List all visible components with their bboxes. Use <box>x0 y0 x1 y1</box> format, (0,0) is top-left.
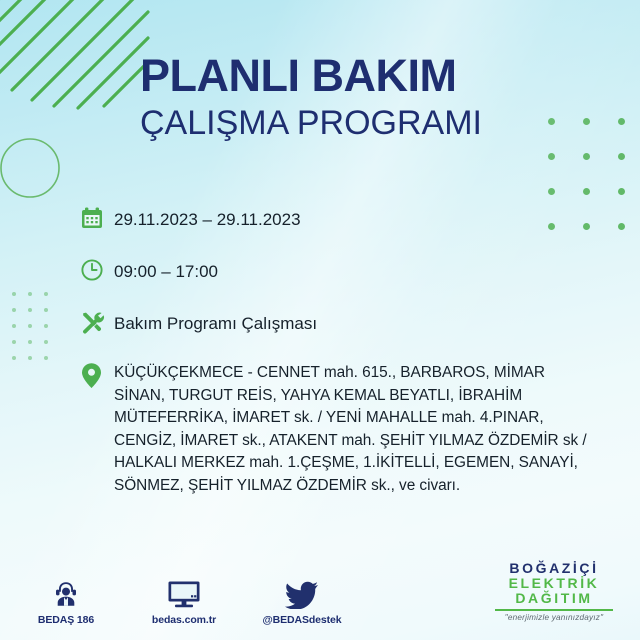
page-title: PLANLI BAKIM <box>140 52 540 100</box>
logo-divider <box>495 609 613 611</box>
detail-row-location: KÜÇÜKÇEKMECE - CENNET mah. 615., BARBARO… <box>80 361 600 498</box>
calendar-icon <box>80 205 114 236</box>
maintenance-details-list: 29.11.2023 – 29.11.2023 09:00 – 17:00 <box>80 205 600 498</box>
page-subtitle: ÇALIŞMA PROGRAMI <box>140 104 540 142</box>
planned-maintenance-poster: PLANLI BAKIM ÇALIŞMA PROGRAMI <box>0 0 640 640</box>
contact-phone[interactable]: BEDAŞ 186 <box>20 575 112 626</box>
contact-twitter[interactable]: @BEDASdestek <box>256 575 348 626</box>
support-agent-icon <box>51 575 81 609</box>
logo-line-elektrik: ELEKTRİK <box>484 576 624 591</box>
twitter-bird-icon <box>285 575 319 609</box>
company-logo: BOĞAZİÇİ ELEKTRİK DAĞITIM "enerjimizle y… <box>484 561 624 622</box>
logo-line-dagitim: DAĞITIM <box>484 591 624 606</box>
contact-website-label: bedas.com.tr <box>152 614 216 626</box>
contact-website[interactable]: bedas.com.tr <box>138 575 230 626</box>
circle-outline-decoration <box>0 132 66 209</box>
contact-channels: BEDAŞ 186 bedas.com.tr <box>20 575 348 626</box>
detail-text-time: 09:00 – 17:00 <box>114 257 600 283</box>
dot-grid-left-decoration <box>0 292 60 372</box>
detail-text-location: KÜÇÜKÇEKMECE - CENNET mah. 615., BARBARO… <box>114 361 600 498</box>
diagonal-stripes-decoration <box>0 0 152 119</box>
poster-title-block: PLANLI BAKIM ÇALIŞMA PROGRAMI <box>140 52 540 142</box>
tools-icon <box>80 309 114 340</box>
contact-phone-label: BEDAŞ 186 <box>38 614 94 626</box>
contact-twitter-label: @BEDASdestek <box>262 614 341 626</box>
monitor-icon <box>167 575 201 609</box>
location-pin-icon <box>80 361 114 392</box>
logo-line-bogazici: BOĞAZİÇİ <box>484 561 624 576</box>
detail-text-date: 29.11.2023 – 29.11.2023 <box>114 205 600 231</box>
poster-footer: BEDAŞ 186 bedas.com.tr <box>0 544 640 640</box>
clock-icon <box>80 257 114 288</box>
logo-tagline: "enerjimizle yanınızdayız" <box>484 613 624 622</box>
detail-text-worktype: Bakım Programı Çalışması <box>114 309 600 335</box>
detail-row-time: 09:00 – 17:00 <box>80 257 600 288</box>
detail-row-date: 29.11.2023 – 29.11.2023 <box>80 205 600 236</box>
detail-row-worktype: Bakım Programı Çalışması <box>80 309 600 340</box>
